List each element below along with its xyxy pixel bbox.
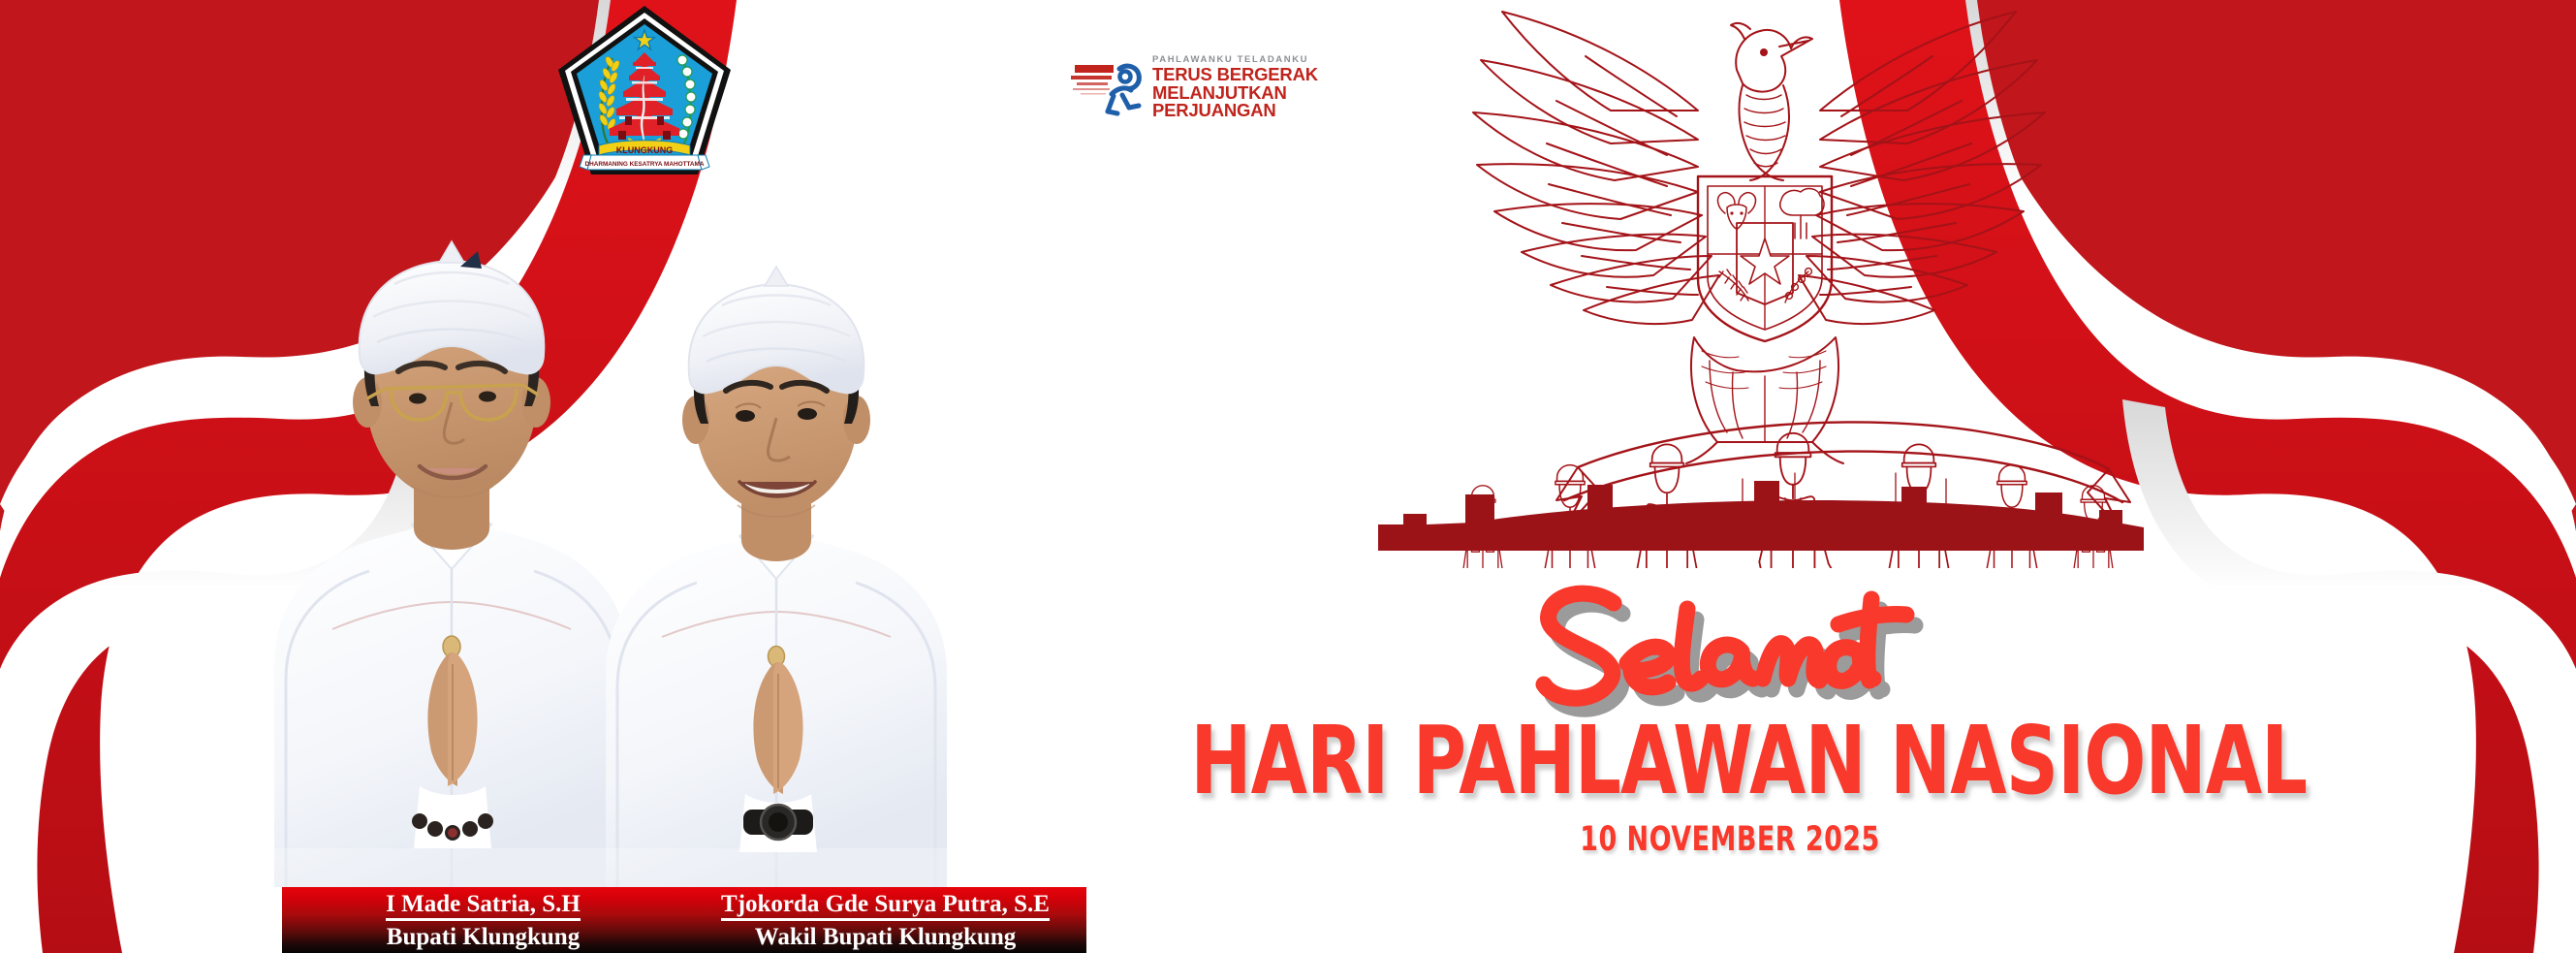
campaign-line-3: PERJUANGAN bbox=[1152, 102, 1318, 120]
nameplate-cell-wakil-bupati: Tjokorda Gde Surya Putra, S.E Wakil Bupa… bbox=[684, 887, 1086, 953]
bupati-name: I Made Satria, S.H bbox=[386, 892, 581, 921]
nameplate-cell-bupati: I Made Satria, S.H Bupati Klungkung bbox=[282, 887, 684, 953]
selamat-script bbox=[1144, 574, 2316, 721]
crest-motto: DHARMANING KESATRYA MAHOTTAMA bbox=[585, 161, 705, 168]
official-right bbox=[606, 267, 947, 887]
crest-banner-label: KLUNGKUNG bbox=[616, 145, 674, 155]
wakil-bupati-role: Wakil Bupati Klungkung bbox=[755, 924, 1017, 951]
campaign-line-1: TERUS BERGERAK bbox=[1152, 66, 1318, 84]
hari-pahlawan-banner: KLUNGKUNG DHARMANING KESATRYA MAHOTTAMA bbox=[0, 0, 2576, 953]
headline-block: HARI PAHLAWAN NASIONAL 10 NOVEMBER 2025 bbox=[1144, 574, 2316, 854]
bupati-role: Bupati Klungkung bbox=[387, 924, 580, 951]
headline-title: HARI PAHLAWAN NASIONAL bbox=[1190, 715, 2269, 810]
klungkung-crest-icon: KLUNGKUNG DHARMANING KESATRYA MAHOTTAMA bbox=[554, 2, 735, 196]
runner-speedlines-icon bbox=[1069, 53, 1145, 121]
terus-bergerak-logo: PAHLAWANKU TELADANKU TERUS BERGERAK MELA… bbox=[1069, 48, 1311, 126]
wakil-bupati-name: Tjokorda Gde Surya Putra, S.E bbox=[721, 892, 1050, 921]
official-left bbox=[274, 241, 629, 887]
campaign-wordmark: PAHLAWANKU TELADANKU TERUS BERGERAK MELA… bbox=[1152, 54, 1318, 120]
officials-photo bbox=[170, 208, 1158, 906]
officials-nameplate: I Made Satria, S.H Bupati Klungkung Tjok… bbox=[282, 887, 1086, 953]
monumen-pancasila-sakti-illustration bbox=[1357, 0, 2161, 568]
headline-date: 10 NOVEMBER 2025 bbox=[1203, 820, 2258, 859]
